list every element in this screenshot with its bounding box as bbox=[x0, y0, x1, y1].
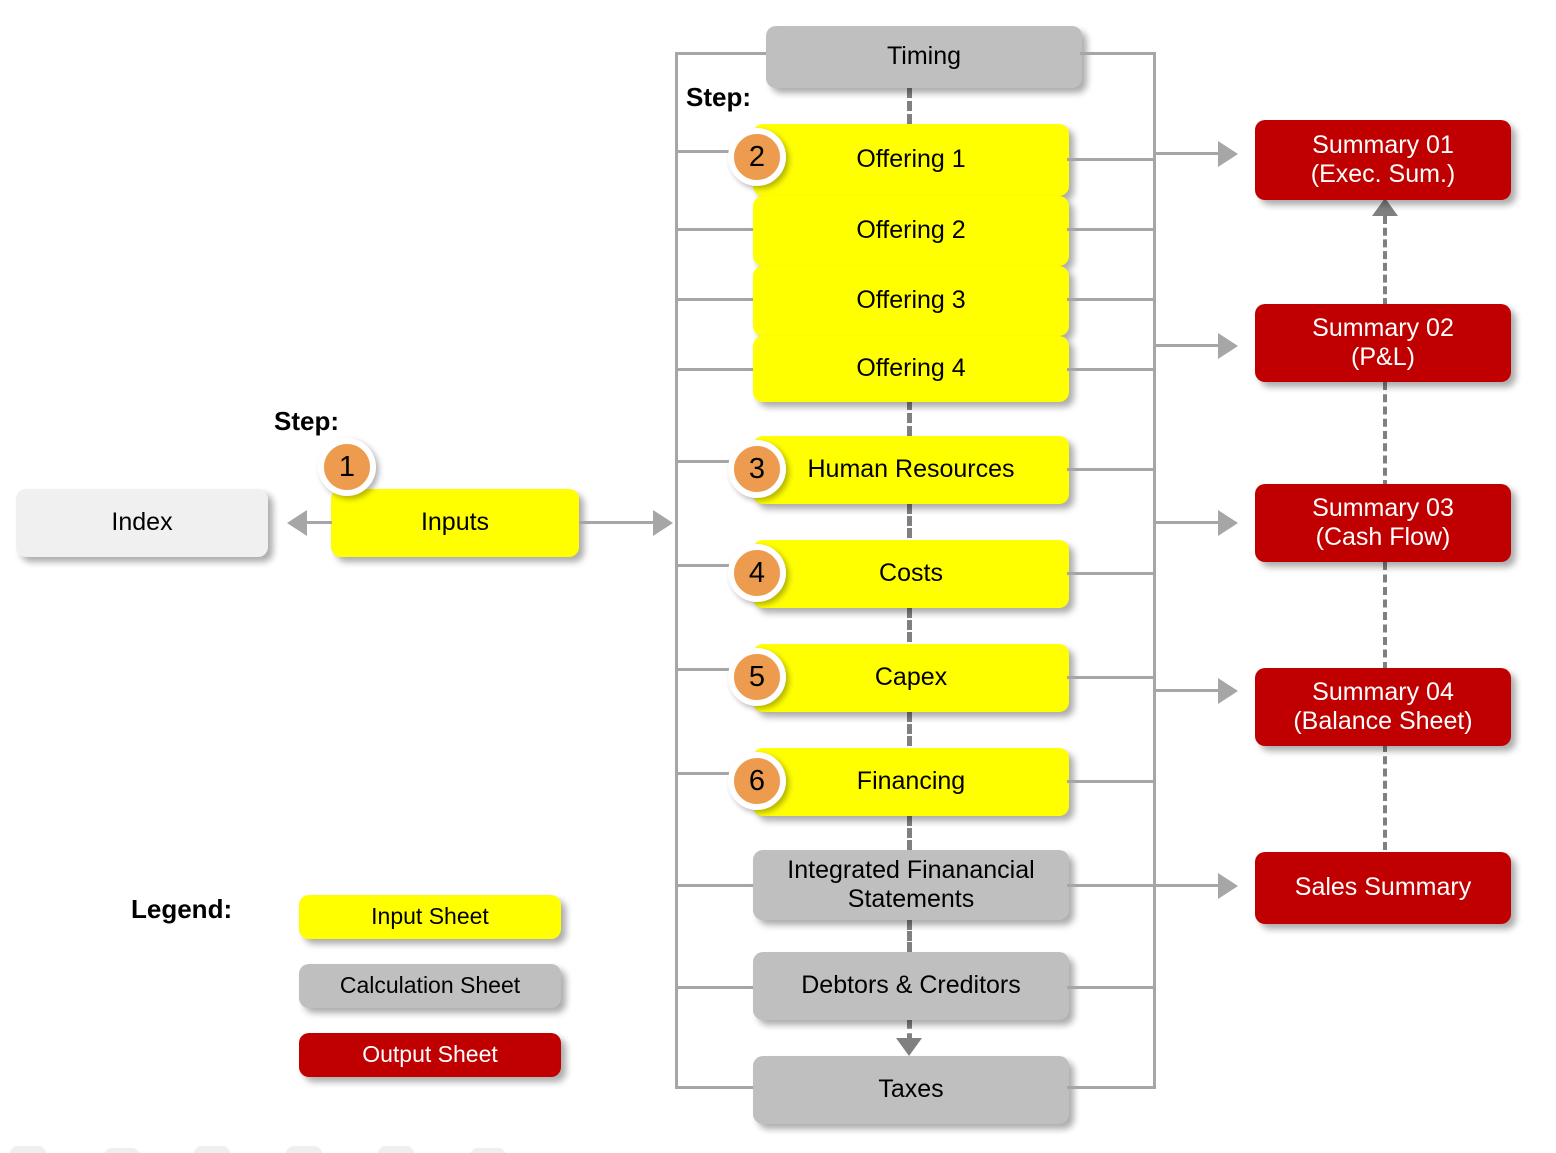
bracket-right-stub-7 bbox=[1067, 676, 1156, 679]
summary-04-line1: Summary 04 bbox=[1312, 678, 1454, 708]
step-badge-4: 4 bbox=[728, 544, 786, 602]
legend-swatch-output-sheet: Output Sheet bbox=[299, 1033, 561, 1077]
summary-box-03[interactable]: Summary 03 (Cash Flow) bbox=[1255, 484, 1511, 562]
arrow-to-sales-summary bbox=[1218, 873, 1238, 899]
center-left-bracket-spine bbox=[675, 52, 678, 1089]
spine-costs-capex bbox=[907, 608, 912, 642]
bracket-right-stub-8 bbox=[1067, 780, 1156, 783]
summary-01-line2: (Exec. Sum.) bbox=[1311, 160, 1455, 190]
bracket-right-stub-2 bbox=[1067, 228, 1156, 231]
spine-capex-financing bbox=[907, 712, 912, 746]
bracket-left-stub-10 bbox=[675, 986, 753, 989]
arrow-left-index bbox=[287, 510, 307, 536]
connector-to-sales-summary bbox=[1153, 884, 1220, 887]
connector-to-summary-04 bbox=[1153, 689, 1220, 692]
bottom-artifact-4 bbox=[378, 1146, 414, 1153]
legend-swatch-input-sheet: Input Sheet bbox=[299, 895, 561, 939]
center-box-offering-1[interactable]: Offering 1 bbox=[753, 124, 1069, 196]
spine-timing-offering1 bbox=[907, 88, 912, 124]
index-box[interactable]: Index bbox=[16, 489, 268, 557]
center-box-timing[interactable]: Timing bbox=[766, 26, 1082, 88]
bracket-left-stub-2 bbox=[675, 228, 753, 231]
connector-to-summary-01 bbox=[1153, 152, 1220, 155]
bottom-artifact-5 bbox=[470, 1148, 506, 1153]
step-badge-1: 1 bbox=[318, 438, 376, 496]
arrow-to-summary-02 bbox=[1218, 333, 1238, 359]
bracket-left-stub-11 bbox=[675, 1086, 753, 1089]
summary-box-02[interactable]: Summary 02 (P&L) bbox=[1255, 304, 1511, 382]
summary-03-line2: (Cash Flow) bbox=[1316, 523, 1451, 553]
legend-title: Legend: bbox=[131, 894, 232, 925]
bottom-artifact-3 bbox=[286, 1146, 322, 1153]
step-badge-5: 5 bbox=[728, 648, 786, 706]
bracket-right-stub-0 bbox=[1080, 52, 1156, 55]
arrow-to-summary-03 bbox=[1218, 510, 1238, 536]
center-box-financing[interactable]: Financing bbox=[753, 748, 1069, 816]
bottom-artifact-2 bbox=[194, 1146, 230, 1153]
step-badge-2: 2 bbox=[728, 128, 786, 186]
spine-hr-costs bbox=[907, 504, 912, 538]
arrow-to-summary-04 bbox=[1218, 678, 1238, 704]
center-box-offering-4[interactable]: Offering 4 bbox=[753, 336, 1069, 402]
spine-offering4-hr bbox=[907, 400, 912, 436]
bracket-left-stub-3 bbox=[675, 298, 753, 301]
spine-summary02-to-summary01 bbox=[1383, 382, 1387, 488]
bracket-right-stub-9 bbox=[1067, 884, 1156, 887]
summary-box-01[interactable]: Summary 01 (Exec. Sum.) bbox=[1255, 120, 1511, 200]
summary-01-line1: Summary 01 bbox=[1312, 131, 1454, 161]
connector-inputs-to-center bbox=[579, 521, 655, 524]
summary-04-line2: (Balance Sheet) bbox=[1293, 707, 1472, 737]
summary-box-sales[interactable]: Sales Summary bbox=[1255, 852, 1511, 924]
arrow-right-center bbox=[653, 510, 673, 536]
connector-inputs-to-index bbox=[306, 521, 332, 524]
center-box-capex[interactable]: Capex bbox=[753, 644, 1069, 712]
bracket-right-stub-6 bbox=[1067, 572, 1156, 575]
connector-to-summary-03 bbox=[1153, 521, 1220, 524]
bracket-left-stub-4 bbox=[675, 368, 753, 371]
bracket-right-stub-1 bbox=[1067, 158, 1156, 161]
bracket-right-stub-10 bbox=[1067, 986, 1156, 989]
summary-02-line2: (P&L) bbox=[1351, 343, 1415, 373]
step-badge-6: 6 bbox=[728, 752, 786, 810]
center-box-taxes[interactable]: Taxes bbox=[753, 1056, 1069, 1124]
center-box-human-resources[interactable]: Human Resources bbox=[753, 436, 1069, 504]
bracket-right-stub-3 bbox=[1067, 298, 1156, 301]
spine-financing-ifs bbox=[907, 816, 912, 850]
bottom-artifact-0 bbox=[10, 1146, 46, 1153]
step-label-left: Step: bbox=[274, 406, 339, 437]
summary-box-04[interactable]: Summary 04 (Balance Sheet) bbox=[1255, 668, 1511, 746]
bracket-right-stub-4 bbox=[1067, 368, 1156, 371]
step-badge-3: 3 bbox=[728, 440, 786, 498]
legend-swatch-calculation-sheet: Calculation Sheet bbox=[299, 964, 561, 1008]
spine-salessummary-to-summary04 bbox=[1383, 744, 1387, 850]
bracket-right-stub-5 bbox=[1067, 468, 1156, 471]
arrow-to-summary-01 bbox=[1218, 141, 1238, 167]
center-box-debtors-creditors[interactable]: Debtors & Creditors bbox=[753, 952, 1069, 1020]
arrow-down-taxes bbox=[896, 1038, 922, 1056]
center-box-integrated-financial-statements[interactable]: Integrated Finanancial Statements bbox=[753, 850, 1069, 920]
arrow-up-summary-01 bbox=[1372, 198, 1398, 216]
bracket-left-stub-9 bbox=[675, 884, 753, 887]
center-box-costs[interactable]: Costs bbox=[753, 540, 1069, 608]
bottom-artifact-1 bbox=[104, 1148, 140, 1153]
inputs-box[interactable]: Inputs bbox=[331, 489, 579, 557]
spine-upper-summary bbox=[1383, 216, 1387, 306]
center-box-offering-3[interactable]: Offering 3 bbox=[753, 266, 1069, 336]
summary-02-line1: Summary 02 bbox=[1312, 314, 1454, 344]
connector-to-summary-02 bbox=[1153, 344, 1220, 347]
spine-ifs-debtors bbox=[907, 920, 912, 952]
spine-summary03-to-summary02 bbox=[1383, 562, 1387, 670]
diagram-canvas: Step: Index Inputs 1 Step: Timing Offeri… bbox=[0, 0, 1556, 1153]
center-right-bracket-spine bbox=[1153, 52, 1156, 1089]
step-label-center: Step: bbox=[686, 82, 751, 113]
bracket-right-stub-11 bbox=[1067, 1086, 1156, 1089]
summary-03-line1: Summary 03 bbox=[1312, 494, 1454, 524]
center-box-offering-2[interactable]: Offering 2 bbox=[753, 196, 1069, 266]
